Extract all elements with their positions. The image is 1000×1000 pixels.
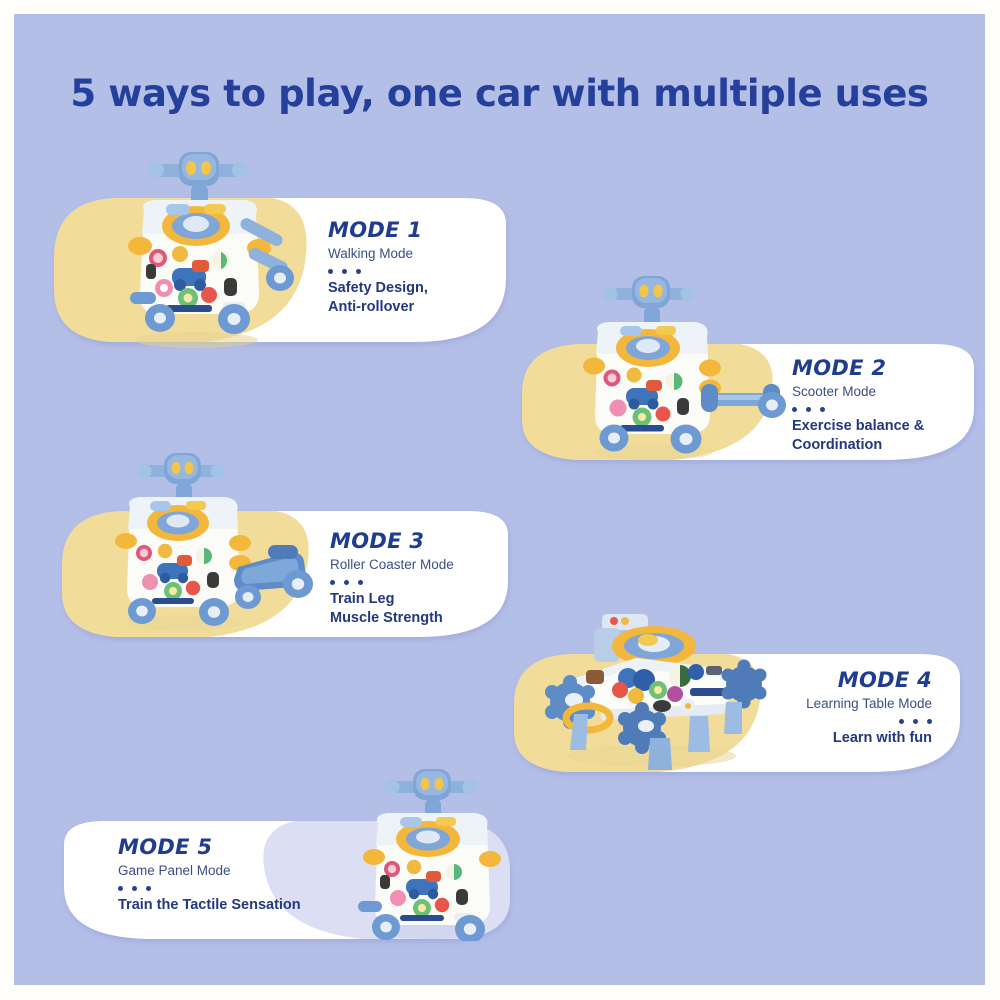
mode-1-dots	[328, 269, 428, 274]
mode-1-benefit-line2: Anti-rollover	[328, 299, 428, 316]
infographic-panel: 5 ways to play, one car with multiple us…	[14, 14, 985, 985]
page-title: 5 ways to play, one car with multiple us…	[14, 72, 985, 115]
mode-2-name: Scooter Mode	[792, 384, 924, 400]
mode-card-5: MODE 5 Game Panel Mode Train the Tactile…	[60, 809, 510, 939]
mode-2-benefit: Exercise balance & Coordination	[792, 418, 924, 454]
mode-4-benefit-line1: Learn with fun	[742, 730, 932, 747]
toy-baby-walker-standing	[96, 142, 306, 350]
mode-5-label: MODE 5	[118, 835, 301, 860]
mode-5-benefit-line1: Train the Tactile Sensation	[118, 897, 301, 914]
mode-4-name: Learning Table Mode	[742, 696, 932, 712]
mode-4-dots	[742, 719, 932, 724]
mode-5-benefit: Train the Tactile Sensation	[118, 897, 301, 914]
mode-3-benefit: Train Leg Muscle Strength	[330, 591, 454, 627]
mode-4-benefit: Learn with fun	[742, 730, 932, 747]
mode-2-text-block: MODE 2 Scooter Mode Exercise balance & C…	[792, 356, 924, 454]
mode-1-name: Walking Mode	[328, 246, 428, 262]
mode-1-label: MODE 1	[328, 218, 428, 243]
mode-card-2: MODE 2 Scooter Mode Exercise balance & C…	[522, 332, 974, 460]
mode-1-benefit-line1: Safety Design,	[328, 280, 428, 297]
mode-1-benefit: Safety Design, Anti-rollover	[328, 280, 428, 316]
mode-2-benefit-line1: Exercise balance &	[792, 418, 924, 435]
mode-card-3: MODE 3 Roller Coaster Mode Train Leg Mus…	[62, 497, 508, 637]
toy-baby-walker-ride-on	[92, 441, 332, 633]
mode-2-benefit-line2: Coordination	[792, 437, 924, 454]
mode-3-label: MODE 3	[330, 529, 454, 554]
mode-3-dots	[330, 580, 454, 585]
mode-4-label: MODE 4	[742, 668, 932, 693]
mode-4-text-block: MODE 4 Learning Table Mode Learn with fu…	[742, 668, 932, 747]
toy-baby-walker-scooter	[558, 262, 788, 462]
mode-5-dots	[118, 886, 301, 891]
mode-card-1: MODE 1 Walking Mode Safety Design, Anti-…	[54, 182, 506, 342]
mode-3-benefit-line2: Muscle Strength	[330, 610, 454, 627]
toy-baby-walker-game-panel	[328, 761, 528, 941]
mode-1-text-block: MODE 1 Walking Mode Safety Design, Anti-…	[328, 218, 428, 316]
mode-3-name: Roller Coaster Mode	[330, 557, 454, 573]
mode-card-4: MODE 4 Learning Table Mode Learn with fu…	[514, 642, 960, 772]
mode-3-benefit-line1: Train Leg	[330, 591, 454, 608]
mode-2-dots	[792, 407, 924, 412]
mode-2-label: MODE 2	[792, 356, 924, 381]
mode-3-text-block: MODE 3 Roller Coaster Mode Train Leg Mus…	[330, 529, 454, 627]
mode-5-name: Game Panel Mode	[118, 863, 301, 879]
mode-5-text-block: MODE 5 Game Panel Mode Train the Tactile…	[118, 835, 301, 914]
